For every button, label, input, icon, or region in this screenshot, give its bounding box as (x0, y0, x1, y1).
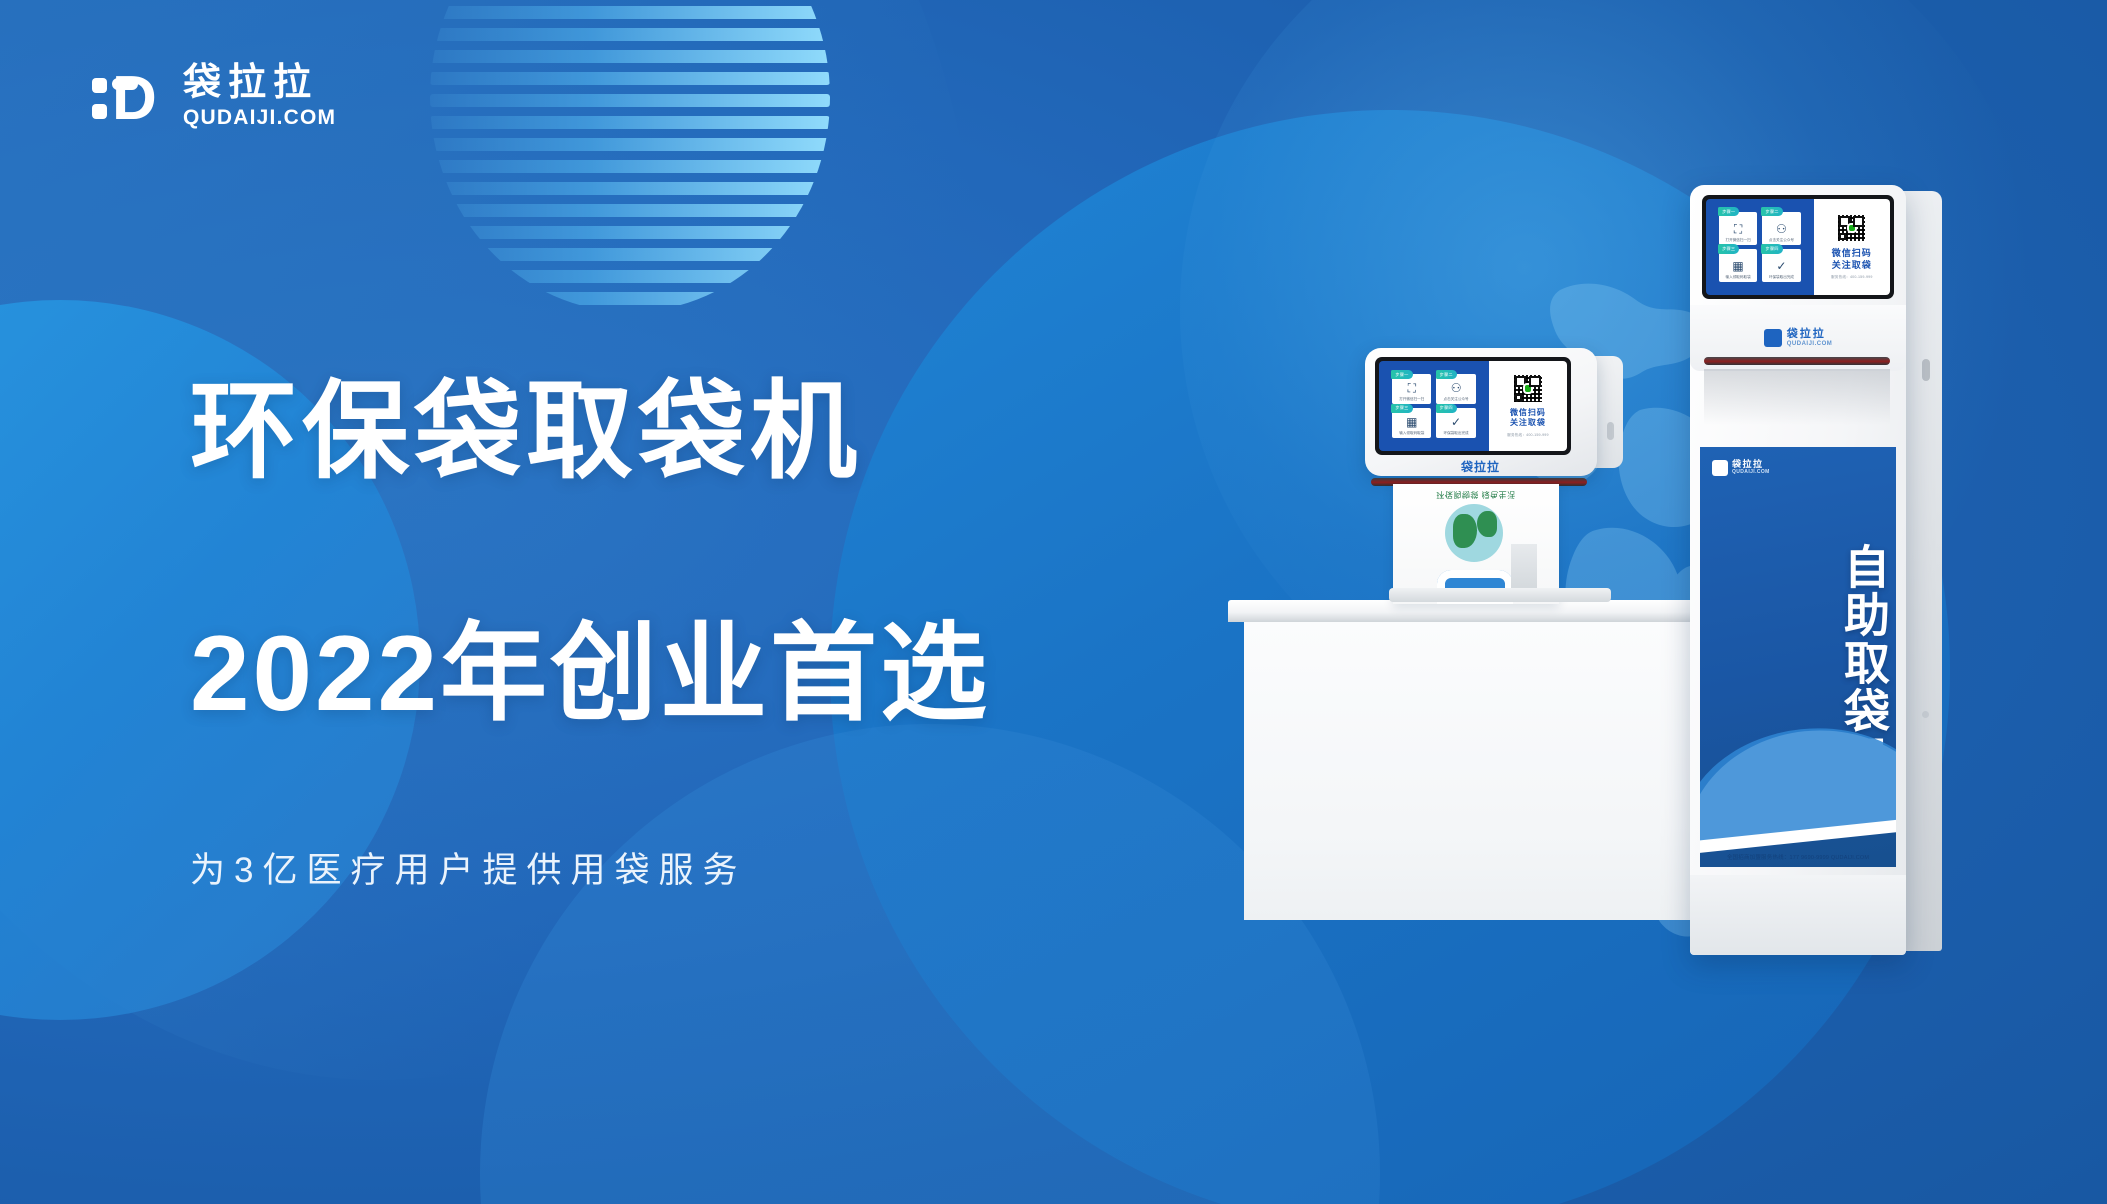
stripe-bar (430, 94, 830, 107)
kiosk-cta-panel: 微信扫码关注取袋服务热线：400-159-999 (1814, 199, 1890, 295)
desktop-kiosk-screen[interactable]: 步骤一⛶打开微信扫一扫步骤二⚇点击关注公众号步骤三▦输入领取码取袋步骤四✓环保袋… (1375, 357, 1571, 455)
scan-frame-icon: ⛶ (1408, 382, 1416, 394)
kiosk-step-card[interactable]: 步骤一⛶打开微信扫一扫 (1719, 212, 1757, 245)
check-circle-icon: ✓ (1451, 416, 1461, 428)
check-circle-icon: ✓ (1776, 260, 1786, 272)
kiosk-step-caption: 输入领取码取袋 (1724, 275, 1752, 279)
stripe-bar (430, 226, 830, 239)
qr-code-icon: ▦ (1732, 260, 1743, 272)
tall-kiosk-face-logo-en: QUDAIJI.COM (1787, 340, 1833, 348)
logo-dot-upper-icon (92, 78, 107, 93)
desktop-kiosk-knob-icon (1607, 422, 1614, 440)
desktop-kiosk-base (1389, 588, 1611, 602)
kiosk-cta-panel: 微信扫码关注取袋服务热线：400-159-999 (1489, 361, 1567, 451)
qr-code-icon: ▦ (1406, 416, 1417, 428)
logo-wordmark: 袋拉拉 QUDAIJI.COM (183, 62, 336, 131)
kiosk-cta-line-2: 关注取袋 (1510, 418, 1546, 429)
kiosk-step-caption: 打开微信扫一扫 (1724, 238, 1752, 242)
kiosk-cta-line-1: 微信扫码 (1510, 408, 1546, 419)
kiosk-screen-ui: 步骤一⛶打开微信扫一扫步骤二⚇点击关注公众号步骤三▦输入领取码取袋步骤四✓环保袋… (1379, 361, 1567, 451)
kiosk-step-caption: 点击关注公众号 (1767, 238, 1795, 242)
sub-headline: 为3亿医疗用户提供用袋服务 (190, 842, 990, 893)
tall-kiosk-slot-shadow (1704, 369, 1890, 425)
kiosk-step-card[interactable]: 步骤一⛶打开微信扫一扫 (1392, 374, 1431, 404)
tall-kiosk-body: 步骤一⛶打开微信扫一扫步骤二⚇点击关注公众号步骤三▦输入领取码取袋步骤四✓环保袋… (1690, 185, 1906, 955)
wechat-follow-icon: ⚇ (1451, 382, 1462, 394)
kiosk-step-caption: 输入领取码取袋 (1398, 431, 1426, 435)
wechat-logo-icon (1525, 385, 1532, 392)
desktop-kiosk-head: 步骤一⛶打开微信扫一扫步骤二⚇点击关注公众号步骤三▦输入领取码取袋步骤四✓环保袋… (1365, 348, 1597, 476)
kiosk-step-card[interactable]: 步骤二⚇点击关注公众号 (1436, 374, 1475, 404)
kiosk-step-caption: 环保袋取出完成 (1767, 275, 1795, 279)
kiosk-step-tag: 步骤二 (1436, 370, 1457, 379)
kiosk-step-tag: 步骤一 (1718, 207, 1739, 216)
logo-name-cn: 袋拉拉 (183, 62, 336, 104)
tall-kiosk-lock-icon (1922, 359, 1930, 381)
logo-name-en: QUDAIJI.COM (183, 106, 336, 129)
kiosk-step-tag: 步骤二 (1761, 207, 1782, 216)
promo-banner: D 袋拉拉 QUDAIJI.COM 环保袋取袋机 2022年创业首选 为3亿医疗… (0, 0, 2107, 1204)
logo-letter-d: D (112, 70, 157, 128)
kiosk-service-tel: 服务热线：400-159-999 (1831, 275, 1873, 280)
headline-line-1: 环保袋取袋机 (190, 372, 990, 490)
kiosk-step-card[interactable]: 步骤三▦输入领取码取袋 (1392, 408, 1431, 438)
kiosk-service-tel: 服务热线：400-159-999 (1507, 433, 1549, 438)
stripe-bar (430, 116, 830, 129)
panel-logo-mark-icon (1712, 460, 1728, 476)
logo-mark-icon: D (92, 64, 166, 130)
kiosk-steps-panel: 步骤一⛶打开微信扫一扫步骤二⚇点击关注公众号步骤三▦输入领取码取袋步骤四✓环保袋… (1706, 199, 1814, 295)
panel-logo-cn: 袋拉拉 (1732, 459, 1770, 469)
kiosk-cta-line-1: 微信扫码 (1832, 247, 1872, 259)
brand-logo[interactable]: D 袋拉拉 QUDAIJI.COM (92, 62, 336, 131)
stripe-bar (430, 270, 830, 283)
kiosk-step-card[interactable]: 步骤四✓环保袋取出完成 (1762, 249, 1800, 282)
kiosk-step-caption: 环保袋取出完成 (1442, 431, 1470, 435)
desktop-kiosk-face-logo: 袋拉拉 (1461, 458, 1500, 475)
wechat-qr-code[interactable] (1837, 214, 1866, 243)
stripe-bar (430, 292, 830, 305)
stripe-bar (430, 50, 830, 63)
floor-standing-bag-dispenser[interactable]: 步骤一⛶打开微信扫一扫步骤二⚇点击关注公众号步骤三▦输入领取码取袋步骤四✓环保袋… (1690, 185, 1950, 955)
kiosk-cta-line-2: 关注取袋 (1832, 259, 1872, 271)
stripe-bar (430, 160, 830, 173)
tall-kiosk-base (1690, 875, 1906, 955)
eco-bag-text: 环保购物袋 绿色生活 (1393, 489, 1559, 500)
scan-frame-icon: ⛶ (1734, 223, 1742, 235)
kiosk-step-card[interactable]: 步骤三▦输入领取码取袋 (1719, 249, 1757, 282)
stripe-bar (430, 72, 830, 85)
tall-kiosk-face-logo-cn: 袋拉拉 (1787, 328, 1833, 340)
kiosk-step-tag: 步骤三 (1718, 244, 1739, 253)
stripe-bar (430, 248, 830, 261)
qr-finder-icon (1515, 394, 1522, 401)
kiosk-step-caption: 打开微信扫一扫 (1398, 397, 1426, 401)
kiosk-screen-ui: 步骤一⛶打开微信扫一扫步骤二⚇点击关注公众号步骤三▦输入领取码取袋步骤四✓环保袋… (1706, 199, 1890, 295)
kiosk-step-tag: 步骤四 (1761, 244, 1782, 253)
tall-kiosk-screen[interactable]: 步骤一⛶打开微信扫一扫步骤二⚇点击关注公众号步骤三▦输入领取码取袋步骤四✓环保袋… (1702, 195, 1894, 299)
panel-logo-en: QUDAIJI.COM (1732, 469, 1770, 476)
kiosk-step-tag: 步骤一 (1391, 370, 1412, 379)
panel-footer-text: 全国招商加盟服务热线：177 9690-9999 QUDAIJI.COM (1700, 853, 1896, 861)
kiosk-step-card[interactable]: 步骤四✓环保袋取出完成 (1436, 408, 1475, 438)
desktop-bag-dispenser[interactable]: 步骤一⛶打开微信扫一扫步骤二⚇点击关注公众号步骤三▦输入领取码取袋步骤四✓环保袋… (1365, 348, 1625, 618)
qr-finder-icon (1839, 233, 1846, 240)
stripe-bar (430, 182, 830, 195)
stripe-bar (430, 6, 830, 19)
tall-kiosk-screw-icon (1922, 711, 1929, 718)
stripe-bar (430, 28, 830, 41)
wechat-logo-icon (1849, 225, 1855, 231)
desktop-kiosk-stand (1511, 544, 1537, 592)
kiosk-step-tag: 步骤三 (1391, 404, 1412, 413)
stripe-bar (430, 138, 830, 151)
tall-kiosk-logo-mark-icon (1764, 329, 1782, 347)
headline-line-2: 2022年创业首选 (190, 614, 990, 732)
kiosk-step-caption: 点击关注公众号 (1442, 397, 1470, 401)
wechat-qr-code[interactable] (1513, 374, 1542, 403)
earth-globe-icon (1445, 504, 1503, 562)
kiosk-step-tag: 步骤四 (1436, 404, 1457, 413)
stripe-bar (430, 204, 830, 217)
kiosk-step-card[interactable]: 步骤二⚇点击关注公众号 (1762, 212, 1800, 245)
panel-logo: 袋拉拉 QUDAIJI.COM (1712, 459, 1770, 476)
tall-kiosk-graphic-panel: 袋拉拉 QUDAIJI.COM 自助取袋机 全国招商加盟服务热线：177 969… (1700, 447, 1896, 867)
striped-globe-decoration (430, 0, 830, 312)
tall-kiosk-dispense-slot (1704, 357, 1890, 365)
logo-dot-lower-icon (92, 104, 107, 119)
kiosk-steps-panel: 步骤一⛶打开微信扫一扫步骤二⚇点击关注公众号步骤三▦输入领取码取袋步骤四✓环保袋… (1379, 361, 1489, 451)
hero-copy: 环保袋取袋机 2022年创业首选 为3亿医疗用户提供用袋服务 (190, 372, 990, 893)
wechat-follow-icon: ⚇ (1776, 223, 1787, 235)
